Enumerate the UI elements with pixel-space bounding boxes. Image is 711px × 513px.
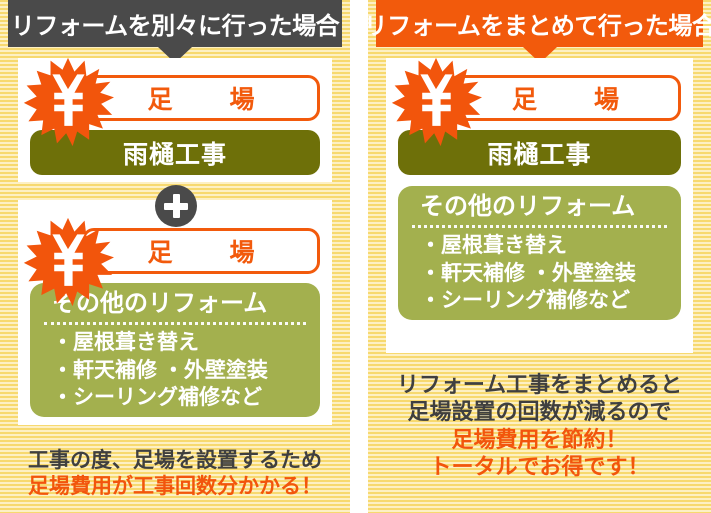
list-item: ・軒天補修 ・外壁塗装 bbox=[52, 357, 320, 385]
left-caption-line-1: 工事の度、足場を設置するため bbox=[0, 448, 350, 474]
list-item: ・シーリング補修など bbox=[420, 287, 681, 315]
list-item: ・軒天補修 ・外壁塗装 bbox=[420, 260, 681, 288]
right-caption-line-4: トータルでお得です！ bbox=[368, 453, 711, 480]
list-item: ・屋根葺き替え bbox=[52, 329, 320, 357]
left-other-reform-box: その他のリフォーム ・屋根葺き替え ・軒天補修 ・外壁塗装 ・シーリング補修など bbox=[30, 283, 320, 417]
right-caption-line-2: 足場設置の回数が減るので bbox=[368, 398, 711, 425]
right-panel-header: リフォームをまとめて行った場合 bbox=[376, 0, 703, 47]
right-caption: リフォーム工事をまとめると 足場設置の回数が減るので 足場費用を節約！ トータル… bbox=[368, 371, 711, 480]
right-other-reform-list: ・屋根葺き替え ・軒天補修 ・外壁塗装 ・シーリング補修など bbox=[398, 232, 681, 315]
comparison-infographic: リフォームを別々に行った場合 足 場 雨樋工事 足 場 その bbox=[0, 0, 711, 513]
right-scaffold-pill: 足 場 bbox=[450, 75, 681, 121]
right-caption-line-3: 足場費用を節約！ bbox=[368, 426, 711, 453]
left-scaffold-pill-2: 足 場 bbox=[82, 228, 320, 274]
left-other-reform-list: ・屋根葺き替え ・軒天補修 ・外壁塗装 ・シーリング補修など bbox=[30, 329, 320, 412]
panel-separate-reform: リフォームを別々に行った場合 足 場 雨樋工事 足 場 その bbox=[0, 0, 350, 513]
left-scaffold-pill-1: 足 場 bbox=[82, 75, 320, 121]
dotted-divider-icon bbox=[44, 322, 306, 325]
left-panel-header: リフォームを別々に行った場合 bbox=[8, 0, 342, 47]
right-other-reform-box: その他のリフォーム ・屋根葺き替え ・軒天補修 ・外壁塗装 ・シーリング補修など bbox=[398, 186, 681, 320]
right-caption-line-1: リフォーム工事をまとめると bbox=[368, 371, 711, 398]
right-other-reform-title: その他のリフォーム bbox=[398, 192, 681, 222]
left-other-reform-title: その他のリフォーム bbox=[30, 289, 320, 319]
list-item: ・シーリング補修など bbox=[52, 384, 320, 412]
right-gutter-work-bar: 雨樋工事 bbox=[398, 130, 681, 175]
dotted-divider-icon bbox=[412, 225, 667, 228]
left-gutter-work-bar: 雨樋工事 bbox=[30, 130, 320, 175]
panel-bundled-reform: リフォームをまとめて行った場合 足 場 雨樋工事 その他のリフォーム ・屋根葺き… bbox=[368, 0, 711, 513]
plus-vertical-bar bbox=[173, 194, 180, 218]
list-item: ・屋根葺き替え bbox=[420, 232, 681, 260]
left-caption: 工事の度、足場を設置するため 足場費用が工事回数分かかる！ bbox=[0, 448, 350, 500]
left-caption-line-2: 足場費用が工事回数分かかる！ bbox=[0, 474, 350, 500]
plus-icon bbox=[155, 185, 197, 227]
